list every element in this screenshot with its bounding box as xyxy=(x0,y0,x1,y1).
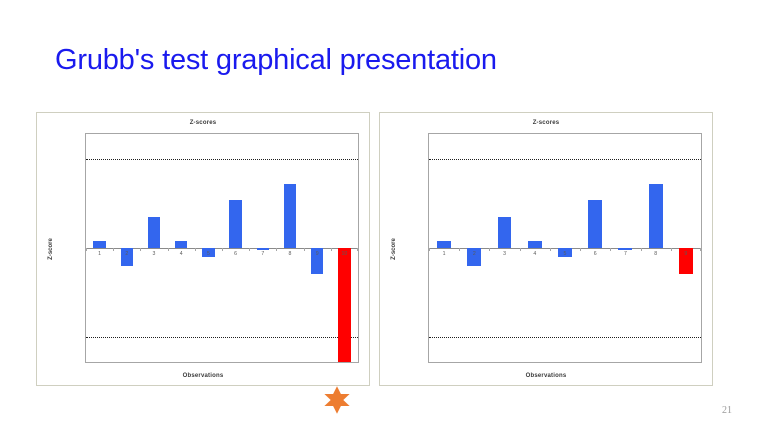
x-axis-tick xyxy=(195,248,196,251)
bar-10[interactable] xyxy=(338,248,351,362)
bar-1[interactable] xyxy=(93,241,106,248)
bar-1[interactable] xyxy=(437,241,451,248)
x-axis-tick-label: 6 xyxy=(234,251,237,257)
x-axis-tick xyxy=(304,248,305,251)
threshold-line xyxy=(86,159,358,160)
plot-inner-left: 2.521.510.50-0.5-1-1.5-2-2.512345678910 xyxy=(86,134,358,362)
x-axis-tick xyxy=(168,248,169,251)
x-axis-tick xyxy=(357,248,358,251)
threshold-line xyxy=(429,337,701,338)
x-axis-tick xyxy=(700,248,701,251)
x-axis-tick-label: 1 xyxy=(98,251,101,257)
threshold-line xyxy=(429,159,701,160)
chart-title-left: Z-scores xyxy=(37,120,369,126)
bar-3[interactable] xyxy=(148,217,161,248)
bar-7[interactable] xyxy=(618,248,632,250)
x-axis-tick-label: 7 xyxy=(261,251,264,257)
x-axis-title-right: Observations xyxy=(380,373,712,379)
bar-7[interactable] xyxy=(257,248,270,250)
x-axis-tick-label: 9 xyxy=(684,251,687,257)
y-axis-title-right: Z-score xyxy=(391,238,397,260)
bar-3[interactable] xyxy=(498,217,512,248)
x-axis-tick-label: 3 xyxy=(153,251,156,257)
x-axis-tick xyxy=(331,248,332,251)
x-axis-tick-label: 5 xyxy=(564,251,567,257)
x-axis-tick-label: 9 xyxy=(316,251,319,257)
bar-4[interactable] xyxy=(175,241,188,248)
x-axis-tick xyxy=(641,248,642,251)
x-axis-tick xyxy=(520,248,521,251)
x-axis-tick-label: 10 xyxy=(342,251,348,257)
bar-8[interactable] xyxy=(284,184,297,248)
x-axis-tick xyxy=(550,248,551,251)
x-axis-tick xyxy=(580,248,581,251)
threshold-line xyxy=(86,337,358,338)
x-axis-title-left: Observations xyxy=(37,373,369,379)
x-axis-tick xyxy=(140,248,141,251)
x-axis-tick-label: 6 xyxy=(594,251,597,257)
x-axis-tick xyxy=(86,248,87,251)
bar-6[interactable] xyxy=(588,200,602,248)
slide-page-number: 21 xyxy=(722,405,732,416)
y-axis-title-left: Z-score xyxy=(48,238,54,260)
x-axis-tick-label: 4 xyxy=(533,251,536,257)
x-axis-tick xyxy=(249,248,250,251)
x-axis-tick xyxy=(222,248,223,251)
x-axis-tick xyxy=(489,248,490,251)
plot-area-left: 2.521.510.50-0.5-1-1.5-2-2.512345678910 xyxy=(85,133,359,363)
x-axis-tick xyxy=(671,248,672,251)
x-axis-tick xyxy=(610,248,611,251)
page-title: Grubb's test graphical presentation xyxy=(55,44,497,77)
plot-inner-right: 2.521.510.50-0.5-1-1.5-2-2.5123456789 xyxy=(429,134,701,362)
x-axis-tick-label: 5 xyxy=(207,251,210,257)
chart-title-right: Z-scores xyxy=(380,120,712,126)
plot-area-right: 2.521.510.50-0.5-1-1.5-2-2.5123456789 xyxy=(428,133,702,363)
star-icon xyxy=(322,385,352,415)
chart-container-left: Z-scores Z-score 2.521.510.50-0.5-1-1.5-… xyxy=(36,112,370,386)
x-axis-tick-label: 8 xyxy=(289,251,292,257)
bar-4[interactable] xyxy=(528,241,542,248)
x-axis-tick-label: 4 xyxy=(180,251,183,257)
x-axis-tick-label: 2 xyxy=(473,251,476,257)
x-axis-tick-label: 7 xyxy=(624,251,627,257)
x-axis-tick xyxy=(276,248,277,251)
x-axis-tick xyxy=(429,248,430,251)
x-axis-tick-label: 3 xyxy=(503,251,506,257)
x-axis-tick xyxy=(459,248,460,251)
bar-8[interactable] xyxy=(649,184,663,248)
chart-container-right: Z-scores Z-score 2.521.510.50-0.5-1-1.5-… xyxy=(379,112,713,386)
x-axis-tick-label: 1 xyxy=(443,251,446,257)
x-axis-tick-label: 8 xyxy=(654,251,657,257)
x-axis-tick-label: 2 xyxy=(125,251,128,257)
x-axis-tick xyxy=(113,248,114,251)
slide-canvas: Grubb's test graphical presentation Z-sc… xyxy=(0,0,768,432)
bar-6[interactable] xyxy=(229,200,242,248)
